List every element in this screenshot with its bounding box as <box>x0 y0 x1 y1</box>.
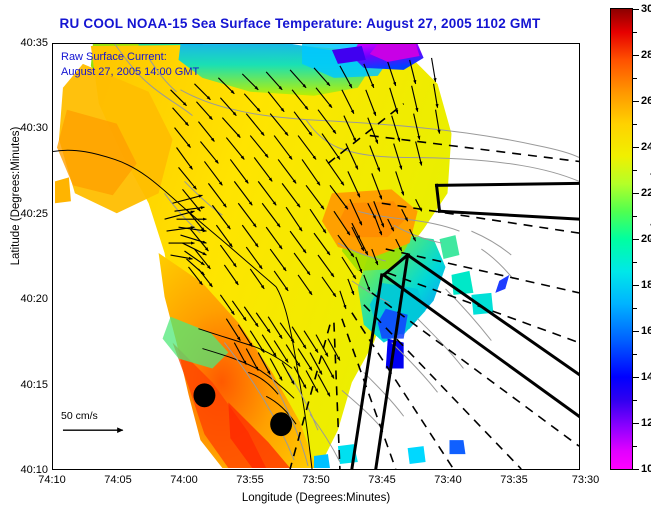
cbtick-30 <box>633 9 639 10</box>
cbtick-12 <box>633 423 639 424</box>
cbminor-25 <box>633 124 637 125</box>
xtick-2: 74:00 <box>170 474 198 486</box>
ytick-3: 40:20 <box>20 293 48 305</box>
xtick-4: 73:50 <box>302 474 330 486</box>
cbtick-18 <box>633 285 639 286</box>
ytick-5: 40:10 <box>20 464 48 476</box>
xtick-7: 73:35 <box>500 474 528 486</box>
map-plot-area[interactable]: Raw Surface Current: August 27, 2005 14:… <box>52 43 580 470</box>
cbminor-27 <box>633 78 637 79</box>
cbtick-22 <box>633 193 639 194</box>
xtick-1: 74:05 <box>104 474 132 486</box>
cbtick-28 <box>633 55 639 56</box>
cbtick-16 <box>633 331 639 332</box>
colorbar <box>610 8 633 470</box>
page-title: RU COOL NOAA-15 Sea Surface Temperature:… <box>0 16 600 31</box>
cbtick-24 <box>633 147 639 148</box>
xtick-3: 73:55 <box>236 474 264 486</box>
radar-station-2 <box>270 412 292 436</box>
cbminor-17 <box>633 308 637 309</box>
cblabel-26: 26 <box>641 95 651 107</box>
ytick-1: 40:30 <box>20 122 48 134</box>
ytick-2: 40:25 <box>20 208 48 220</box>
map-canvas <box>53 44 579 469</box>
x-axis-label: Longitude (Degrees:Minutes) <box>52 492 580 504</box>
cblabel-18: 18 <box>641 279 651 291</box>
cbminor-13 <box>633 400 637 401</box>
cblabel-16: 16 <box>641 325 651 337</box>
annotation-line-2: August 27, 2005 14:00 GMT <box>61 65 199 80</box>
cblabel-28: 28 <box>641 49 651 61</box>
cbtick-10 <box>633 469 639 470</box>
annotation-line-1: Raw Surface Current: <box>61 50 167 65</box>
y-axis-label: Latitude (Degrees:Minutes) <box>10 96 22 296</box>
cbtick-14 <box>633 377 639 378</box>
cblabel-30: 30 <box>641 3 651 15</box>
xtick-8: 73:30 <box>572 474 600 486</box>
scalebar-label: 50 cm/s <box>61 410 98 422</box>
cblabel-10: 10 <box>641 463 651 475</box>
cbminor-11 <box>633 446 637 447</box>
cbtick-20 <box>633 239 639 240</box>
ytick-0: 40:35 <box>20 37 48 49</box>
ytick-4: 40:15 <box>20 379 48 391</box>
cbminor-23 <box>633 170 637 171</box>
xtick-5: 73:45 <box>368 474 396 486</box>
xtick-6: 73:40 <box>434 474 462 486</box>
cbminor-21 <box>633 216 637 217</box>
cbminor-29 <box>633 32 637 33</box>
cblabel-12: 12 <box>641 417 651 429</box>
cbtick-26 <box>633 101 639 102</box>
cbminor-15 <box>633 354 637 355</box>
radar-station-1 <box>193 383 215 407</box>
cblabel-14: 14 <box>641 371 651 383</box>
cbminor-19 <box>633 262 637 263</box>
sst-figure: RU COOL NOAA-15 Sea Surface Temperature:… <box>0 0 651 518</box>
